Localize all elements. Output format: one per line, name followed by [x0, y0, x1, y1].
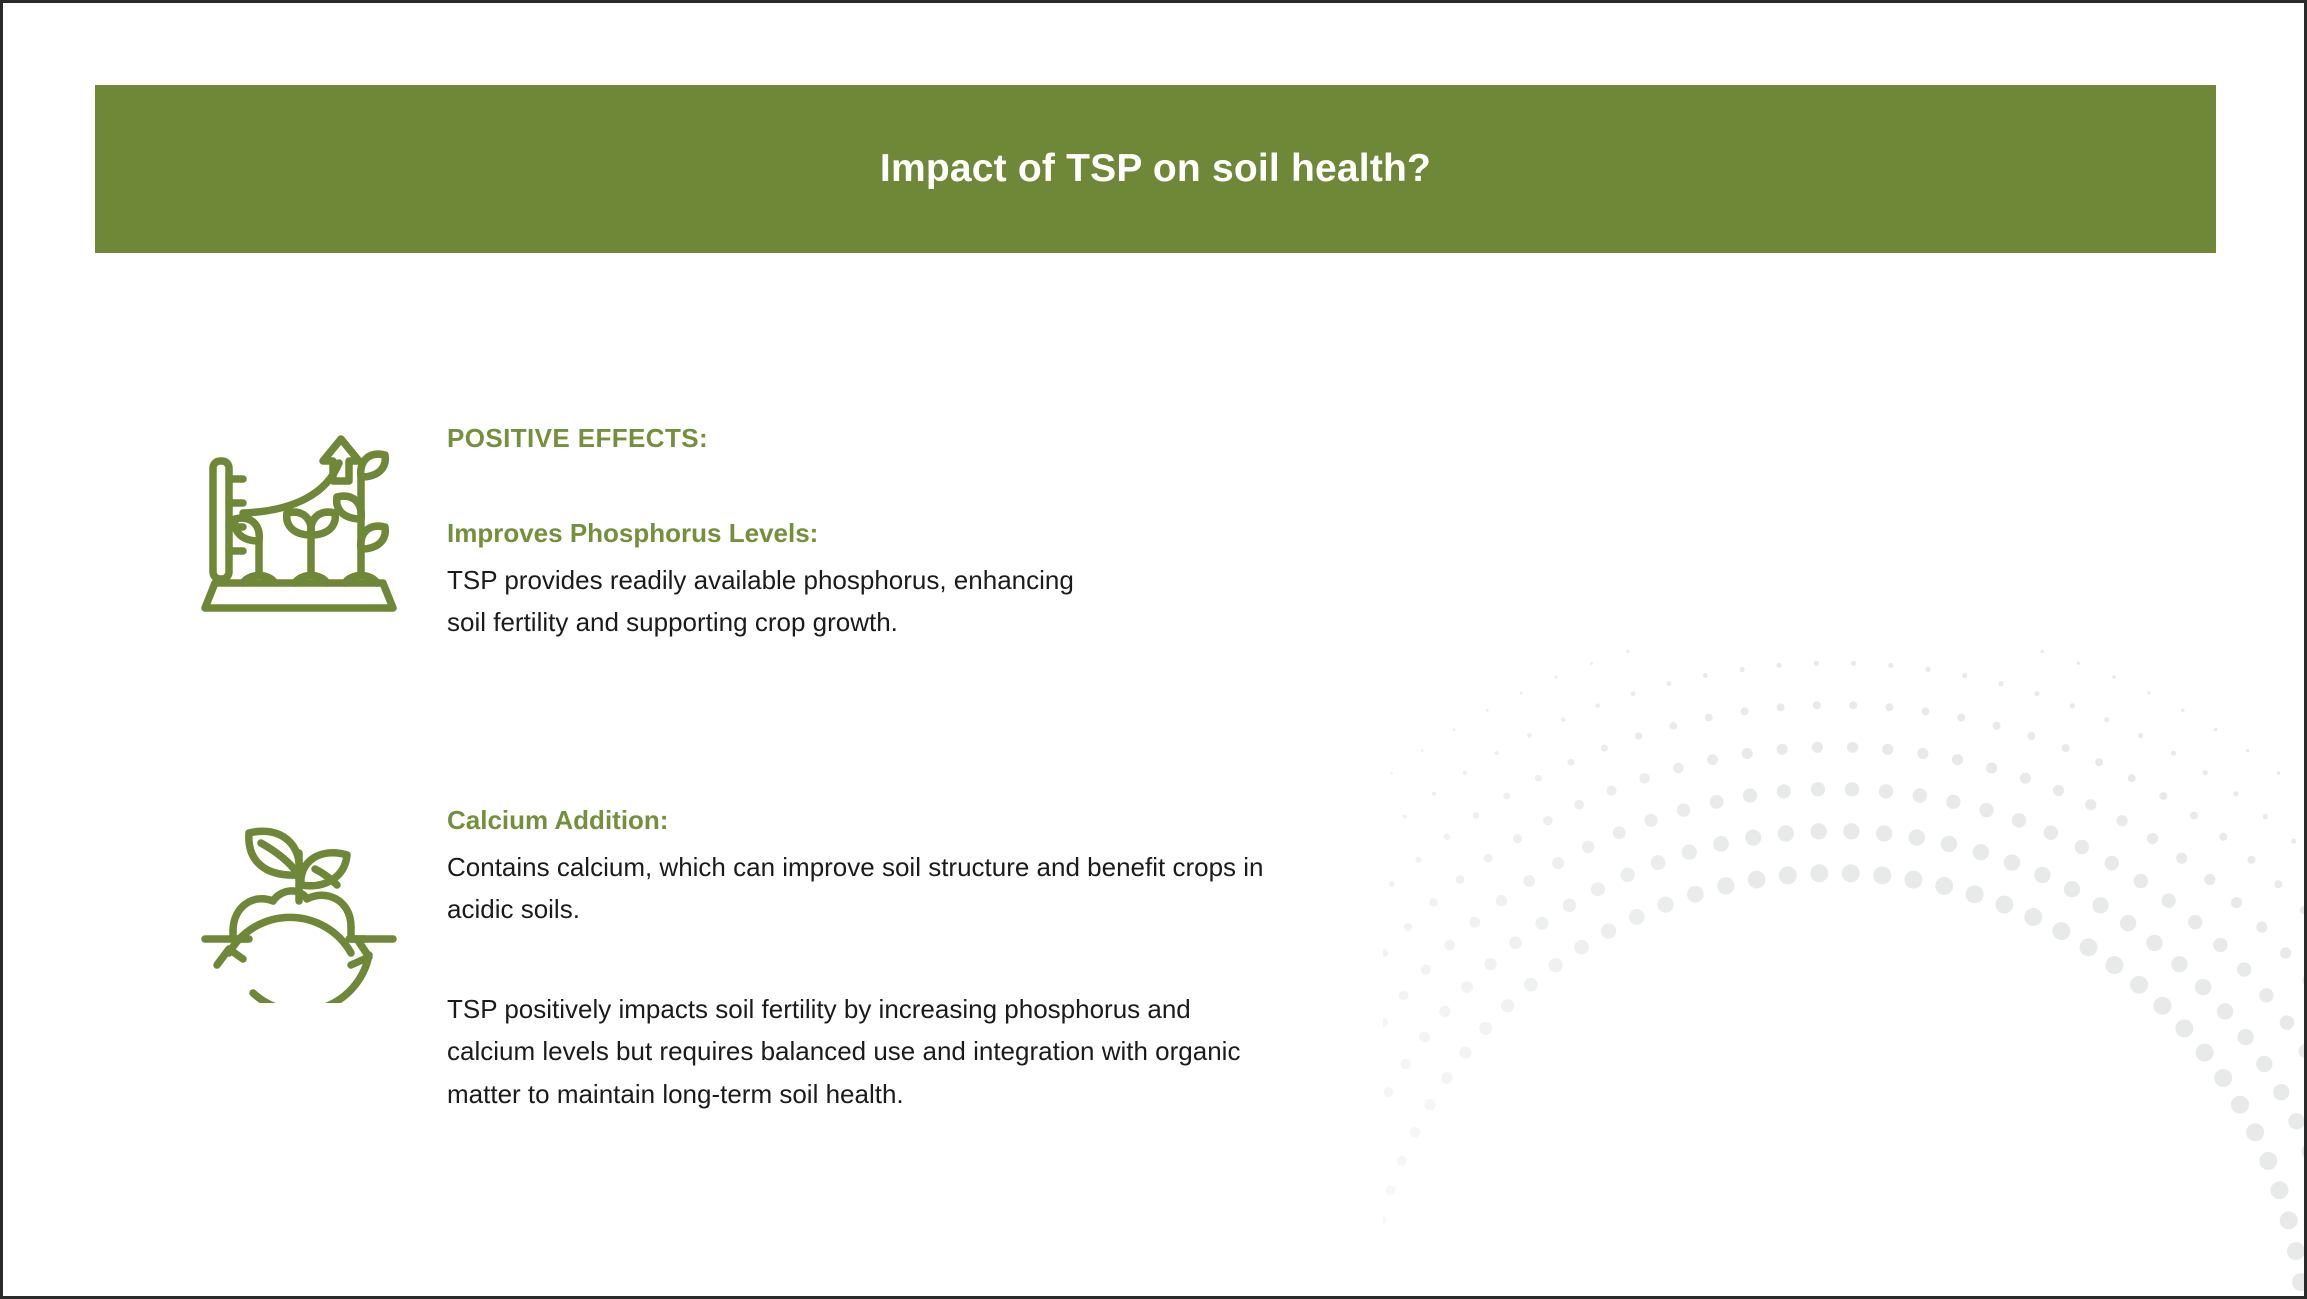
improves-phosphorus-line-2: soil fertility and supporting crop growt… — [447, 601, 1074, 643]
calcium-addition-line-2: acidic soils. — [447, 888, 1264, 930]
calcium-addition-line-1: Contains calcium, which can improve soil… — [447, 846, 1264, 888]
calcium-addition-heading: Calcium Addition: — [447, 803, 1264, 838]
section-positive-effects: POSITIVE EFFECTS: Improves Phosphorus Le… — [199, 423, 1074, 644]
positive-effects-label: POSITIVE EFFECTS: — [447, 423, 1074, 454]
improves-phosphorus-line-1: TSP provides readily available phosphoru… — [447, 559, 1074, 601]
improves-phosphorus-heading: Improves Phosphorus Levels: — [447, 516, 1074, 551]
summary-line-2: calcium levels but requires balanced use… — [447, 1030, 1264, 1072]
content-area: POSITIVE EFFECTS: Improves Phosphorus Le… — [3, 3, 2307, 1299]
section-2-text: Calcium Addition: Contains calcium, whic… — [199, 803, 1264, 1115]
section-calcium-addition: Calcium Addition: Contains calcium, whic… — [199, 803, 1264, 1115]
summary-line-3: matter to maintain long-term soil health… — [447, 1073, 1264, 1115]
section-1-text: POSITIVE EFFECTS: Improves Phosphorus Le… — [199, 423, 1074, 644]
summary-line-1: TSP positively impacts soil fertility by… — [447, 988, 1264, 1030]
slide-root: Impact of TSP on soil health? — [0, 0, 2307, 1299]
